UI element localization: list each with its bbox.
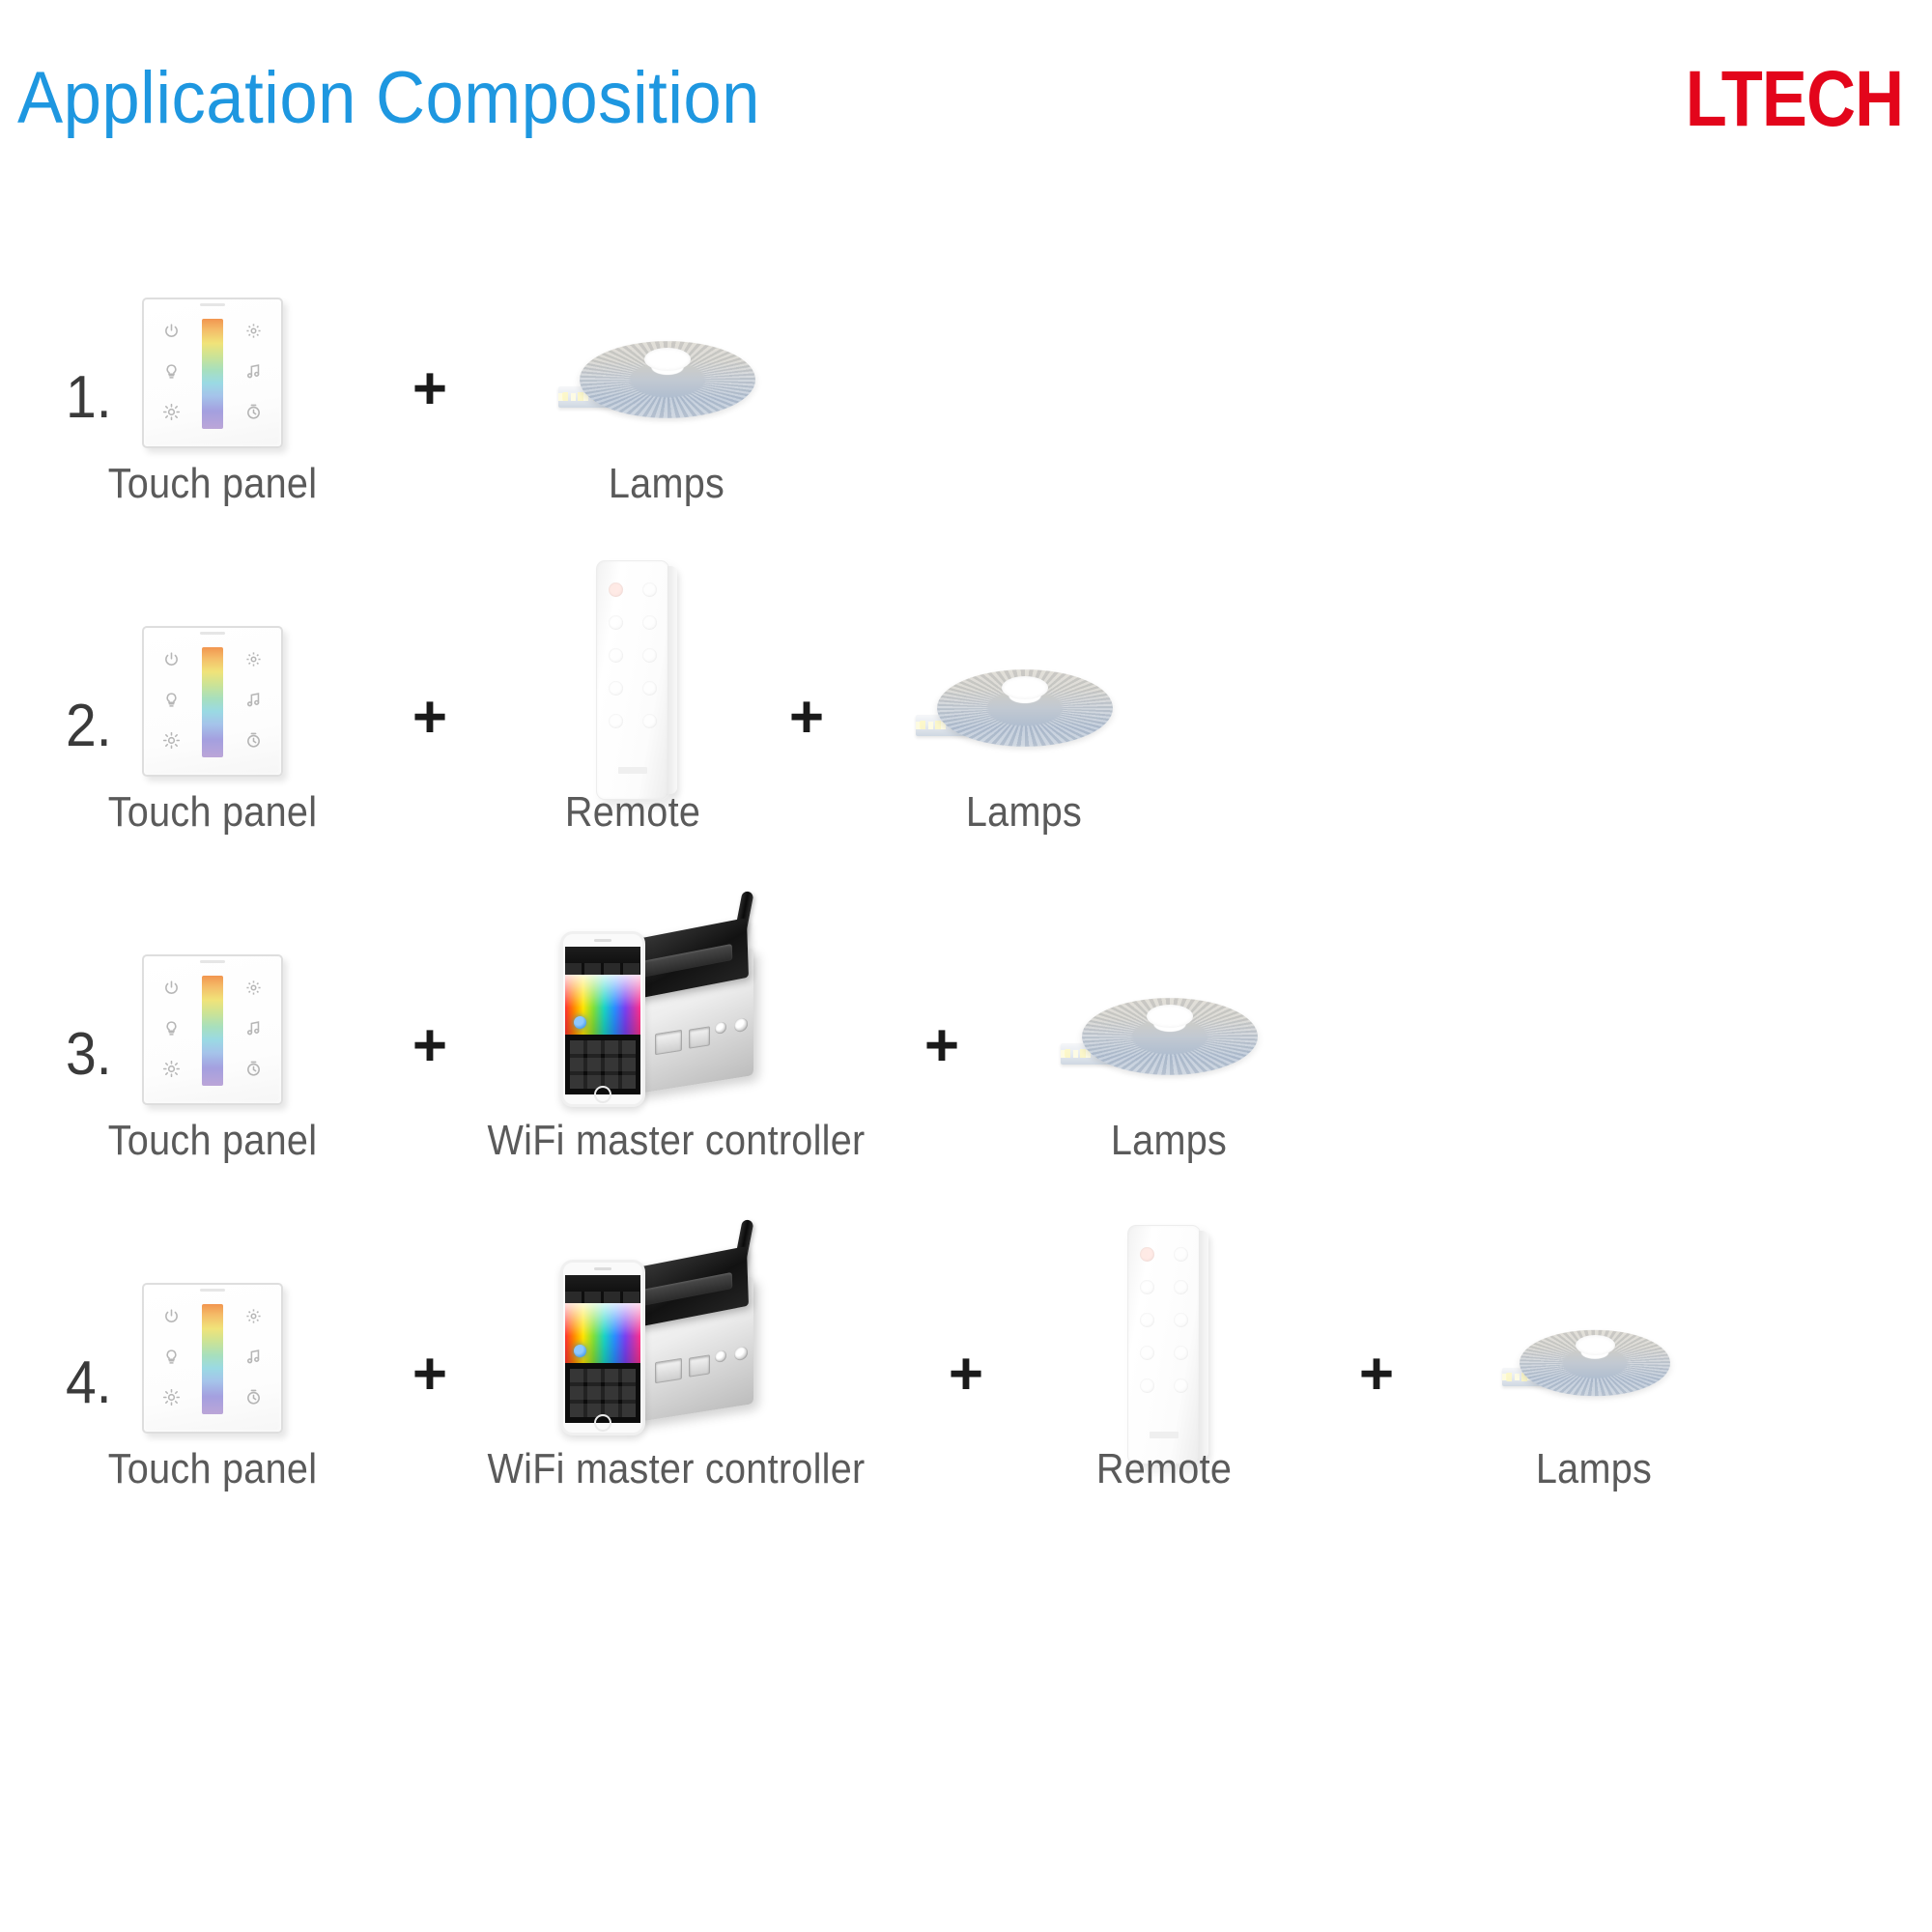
usb-port bbox=[689, 1026, 710, 1048]
remote-speed-up-button[interactable] bbox=[609, 714, 623, 728]
gear-icon[interactable] bbox=[245, 1308, 262, 1324]
wifi-controller-image bbox=[560, 1235, 792, 1439]
led-coil-hole bbox=[644, 348, 691, 371]
touch-panel-color-strip[interactable] bbox=[202, 319, 223, 429]
component-lamps[interactable]: Lamps bbox=[1043, 927, 1294, 1217]
plus-icon: + bbox=[401, 688, 459, 748]
component-lamps[interactable]: Lamps bbox=[541, 270, 792, 560]
remote-zone1-button[interactable] bbox=[609, 615, 623, 630]
app-status-bar bbox=[565, 947, 640, 963]
component-label: Touch panel bbox=[108, 788, 318, 837]
brightness-icon[interactable] bbox=[163, 732, 180, 749]
ltech-logo: LTECH bbox=[1685, 54, 1903, 145]
plus-icon: + bbox=[1348, 1345, 1406, 1405]
remote-bright-down-button[interactable] bbox=[1174, 1346, 1188, 1360]
component-label: Touch panel bbox=[108, 460, 318, 508]
component-label: Touch panel bbox=[108, 1117, 318, 1165]
composition-row-4: 4. bbox=[0, 1256, 1932, 1546]
component-wifi-master-controller[interactable]: WiFi master controller bbox=[444, 1256, 908, 1546]
gear-icon[interactable] bbox=[245, 651, 262, 668]
plus-icon: + bbox=[401, 359, 459, 419]
remote-power-button[interactable] bbox=[609, 582, 623, 597]
smartphone-image bbox=[560, 1260, 645, 1435]
app-tab-bar bbox=[565, 963, 640, 975]
remote-zone2-button[interactable] bbox=[1174, 1280, 1188, 1294]
remote-bright-up-button[interactable] bbox=[1140, 1346, 1154, 1360]
brightness-icon[interactable] bbox=[163, 1061, 180, 1077]
remote-zone4-button[interactable] bbox=[1174, 1313, 1188, 1327]
component-label: Lamps bbox=[1536, 1445, 1652, 1493]
power-icon[interactable] bbox=[163, 1308, 180, 1324]
touch-panel-image bbox=[142, 626, 283, 777]
timer-icon[interactable] bbox=[245, 732, 262, 749]
remote-speed-down-button[interactable] bbox=[642, 714, 657, 728]
scene-icon[interactable] bbox=[163, 363, 180, 380]
remote-mode-button[interactable] bbox=[642, 582, 657, 597]
component-touch-panel[interactable]: Touch panel bbox=[121, 1256, 304, 1546]
usb-port bbox=[689, 1354, 710, 1377]
component-label: Remote bbox=[1096, 1445, 1232, 1493]
app-tab-bar bbox=[565, 1292, 640, 1303]
component-label: WiFi master controller bbox=[487, 1445, 865, 1493]
remote-zone3-button[interactable] bbox=[609, 648, 623, 663]
gear-icon[interactable] bbox=[245, 323, 262, 339]
plus-icon: + bbox=[937, 1345, 995, 1405]
plus-icon: + bbox=[778, 688, 836, 748]
remote-bright-up-button[interactable] bbox=[609, 681, 623, 696]
touch-panel-color-strip[interactable] bbox=[202, 976, 223, 1086]
lamps-image bbox=[570, 305, 763, 431]
power-icon[interactable] bbox=[163, 651, 180, 668]
timer-icon[interactable] bbox=[245, 1061, 262, 1077]
plus-icon: + bbox=[913, 1016, 971, 1076]
lamps-image bbox=[927, 634, 1121, 759]
phone-speaker bbox=[594, 1267, 611, 1270]
remote-speed-up-button[interactable] bbox=[1140, 1378, 1154, 1393]
page-title: Application Composition bbox=[17, 56, 760, 140]
phone-home-button[interactable] bbox=[594, 1414, 611, 1432]
music-icon[interactable] bbox=[245, 692, 262, 708]
remote-image bbox=[596, 560, 669, 800]
lamps-image bbox=[1072, 962, 1265, 1088]
component-label: WiFi master controller bbox=[487, 1117, 865, 1165]
touch-panel-image bbox=[142, 298, 283, 448]
component-remote[interactable]: Remote bbox=[1053, 1256, 1275, 1546]
row-number: 4. bbox=[66, 1349, 112, 1417]
app-status-bar bbox=[565, 1275, 640, 1292]
touch-panel-notch bbox=[200, 960, 225, 963]
remote-side-edge bbox=[1199, 1231, 1208, 1459]
timer-icon[interactable] bbox=[245, 404, 262, 420]
remote-mode-button[interactable] bbox=[1174, 1247, 1188, 1262]
component-lamps[interactable]: Lamps bbox=[1468, 1256, 1719, 1546]
music-icon[interactable] bbox=[245, 1020, 262, 1037]
power-icon[interactable] bbox=[163, 323, 180, 339]
led-coil-hole bbox=[1147, 1005, 1193, 1028]
scene-icon[interactable] bbox=[163, 1349, 180, 1365]
component-label: Touch panel bbox=[108, 1445, 318, 1493]
row-number: 1. bbox=[66, 363, 112, 432]
remote-zone2-button[interactable] bbox=[642, 615, 657, 630]
remote-image bbox=[1127, 1225, 1201, 1464]
touch-panel-color-strip[interactable] bbox=[202, 1304, 223, 1414]
remote-zone1-button[interactable] bbox=[1140, 1280, 1154, 1294]
touch-panel-notch bbox=[200, 303, 225, 306]
component-touch-panel[interactable]: Touch panel bbox=[121, 599, 304, 889]
remote-zone4-button[interactable] bbox=[642, 648, 657, 663]
brightness-icon[interactable] bbox=[163, 1389, 180, 1406]
remote-brand-mark bbox=[618, 767, 647, 774]
touch-panel-notch bbox=[200, 632, 225, 635]
rj45-port bbox=[655, 1030, 682, 1055]
component-label: Lamps bbox=[1111, 1117, 1227, 1165]
touch-panel-image bbox=[142, 1283, 283, 1434]
component-touch-panel[interactable]: Touch panel bbox=[121, 927, 304, 1217]
composition-row-3: 3. bbox=[0, 927, 1932, 1217]
row-number: 3. bbox=[66, 1020, 112, 1089]
row-number: 2. bbox=[66, 692, 112, 760]
phone-speaker bbox=[594, 939, 611, 942]
music-icon[interactable] bbox=[245, 1349, 262, 1365]
composition-row-2: 2. bbox=[0, 599, 1932, 889]
smartphone-image bbox=[560, 931, 645, 1107]
remote-zone3-button[interactable] bbox=[1140, 1313, 1154, 1327]
remote-brand-mark bbox=[1150, 1432, 1179, 1438]
brightness-icon[interactable] bbox=[163, 404, 180, 420]
remote-side-edge bbox=[668, 566, 677, 794]
component-touch-panel[interactable]: Touch panel bbox=[121, 270, 304, 560]
lamps-image bbox=[1512, 1298, 1676, 1406]
touch-panel-color-strip[interactable] bbox=[202, 647, 223, 757]
app-active-indicator bbox=[574, 1345, 586, 1357]
music-icon[interactable] bbox=[245, 363, 262, 380]
wifi-controller-image bbox=[560, 906, 792, 1111]
led-coil-hole bbox=[1002, 676, 1048, 699]
timer-icon[interactable] bbox=[245, 1389, 262, 1406]
component-remote[interactable]: Remote bbox=[522, 599, 744, 889]
component-label: Remote bbox=[565, 788, 700, 837]
phone-home-button[interactable] bbox=[594, 1086, 611, 1103]
power-icon[interactable] bbox=[163, 980, 180, 996]
component-lamps[interactable]: Lamps bbox=[898, 599, 1150, 889]
component-wifi-master-controller[interactable]: WiFi master controller bbox=[444, 927, 908, 1217]
app-active-indicator bbox=[574, 1016, 586, 1029]
remote-bright-down-button[interactable] bbox=[642, 681, 657, 696]
composition-row-1: 1. bbox=[0, 270, 1932, 560]
touch-panel-image bbox=[142, 954, 283, 1105]
rj45-port bbox=[655, 1358, 682, 1383]
led-coil-hole bbox=[1576, 1335, 1615, 1355]
scene-icon[interactable] bbox=[163, 692, 180, 708]
touch-panel-notch bbox=[200, 1289, 225, 1292]
gear-icon[interactable] bbox=[245, 980, 262, 996]
remote-power-button[interactable] bbox=[1140, 1247, 1154, 1262]
component-label: Lamps bbox=[609, 460, 724, 508]
component-label: Lamps bbox=[966, 788, 1082, 837]
scene-icon[interactable] bbox=[163, 1020, 180, 1037]
remote-speed-down-button[interactable] bbox=[1174, 1378, 1188, 1393]
